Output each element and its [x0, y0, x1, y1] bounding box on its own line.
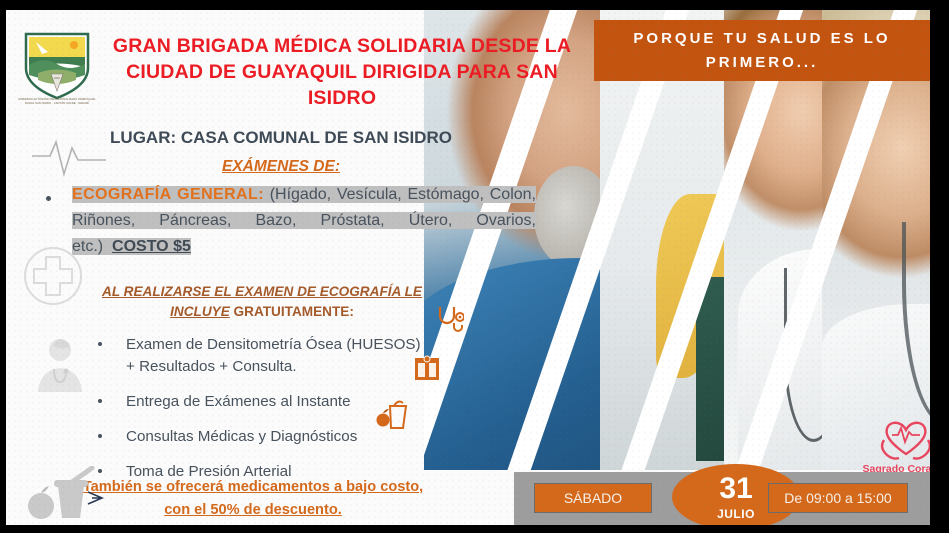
includes-line-2-rest: GRATUITAMENTE:	[230, 304, 354, 319]
schedule-bar: SÁBADO 31 JULIO De 09:00 a 15:00	[514, 472, 930, 525]
includes-line-2-em: INCLUYE	[170, 304, 230, 319]
page-title: GRAN BRIGADA MÉDICA SOLIDARIA DESDE LA C…	[92, 34, 592, 112]
shield-icon	[18, 28, 96, 104]
includes-heading: AL REALIZARSE EL EXAMEN DE ECOGRAFÍA LE …	[82, 282, 442, 323]
ecografia-block: ECOGRAFÍA GENERAL: (Hígado, Vesícula, Es…	[36, 182, 536, 260]
doctor-icon	[28, 332, 92, 401]
medications-line-1: También se ofrecerá medicamentos a bajo …	[83, 479, 423, 495]
bone-density-icon	[414, 355, 440, 386]
stethoscope-icon	[436, 304, 464, 341]
poster-page: PORQUE TU SALUD ES LO PRIMERO... GOBIERN…	[6, 10, 930, 525]
municipal-shield-logo: GOBIERNO AUTÓNOMO DESCENTRALIZADO PARROQ…	[18, 28, 96, 104]
ecografia-label: ECOGRAFÍA GENERAL:	[72, 186, 264, 203]
medications-note: También se ofrecerá medicamentos a bajo …	[58, 476, 448, 521]
ecografia-cost: COSTO $5	[112, 238, 191, 255]
slogan-line-1: PORQUE TU SALUD ES LO	[633, 27, 890, 50]
medications-line-2: con el 50% de descuento.	[164, 502, 342, 518]
bullet-dot	[46, 196, 51, 201]
schedule-hours-chip: De 09:00 a 15:00	[768, 483, 908, 513]
schedule-date-number: 31	[719, 474, 752, 504]
includes-line-1: AL REALIZARSE EL EXAMEN DE ECOGRAFÍA LE	[102, 284, 422, 299]
schedule-day-chip: SÁBADO	[534, 483, 652, 513]
medicine-bag-icon	[376, 398, 410, 435]
schedule-date-month: JULIO	[717, 508, 755, 520]
medical-cross-icon	[22, 245, 84, 312]
shield-caption: GOBIERNO AUTÓNOMO DESCENTRALIZADO PARROQ…	[18, 98, 96, 106]
list-item: Examen de Densitometría Ósea (HUESOS) + …	[92, 334, 432, 378]
poster-root: PORQUE TU SALUD ES LO PRIMERO... GOBIERN…	[0, 0, 949, 533]
heart-hands-icon	[876, 414, 930, 460]
sponsor-logo: Sagrado Corazón	[854, 414, 930, 475]
slogan-line-2: PRIMERO...	[706, 51, 819, 74]
slogan-banner: PORQUE TU SALUD ES LO PRIMERO...	[594, 20, 930, 81]
exams-heading: EXÁMENES DE:	[66, 158, 496, 176]
heartbeat-icon	[30, 132, 108, 183]
ecografia-text: ECOGRAFÍA GENERAL: (Hígado, Vesícula, Es…	[72, 182, 536, 260]
mortar-pestle-icon	[24, 466, 108, 525]
venue-line: LUGAR: CASA COMUNAL DE SAN ISIDRO	[66, 128, 496, 148]
